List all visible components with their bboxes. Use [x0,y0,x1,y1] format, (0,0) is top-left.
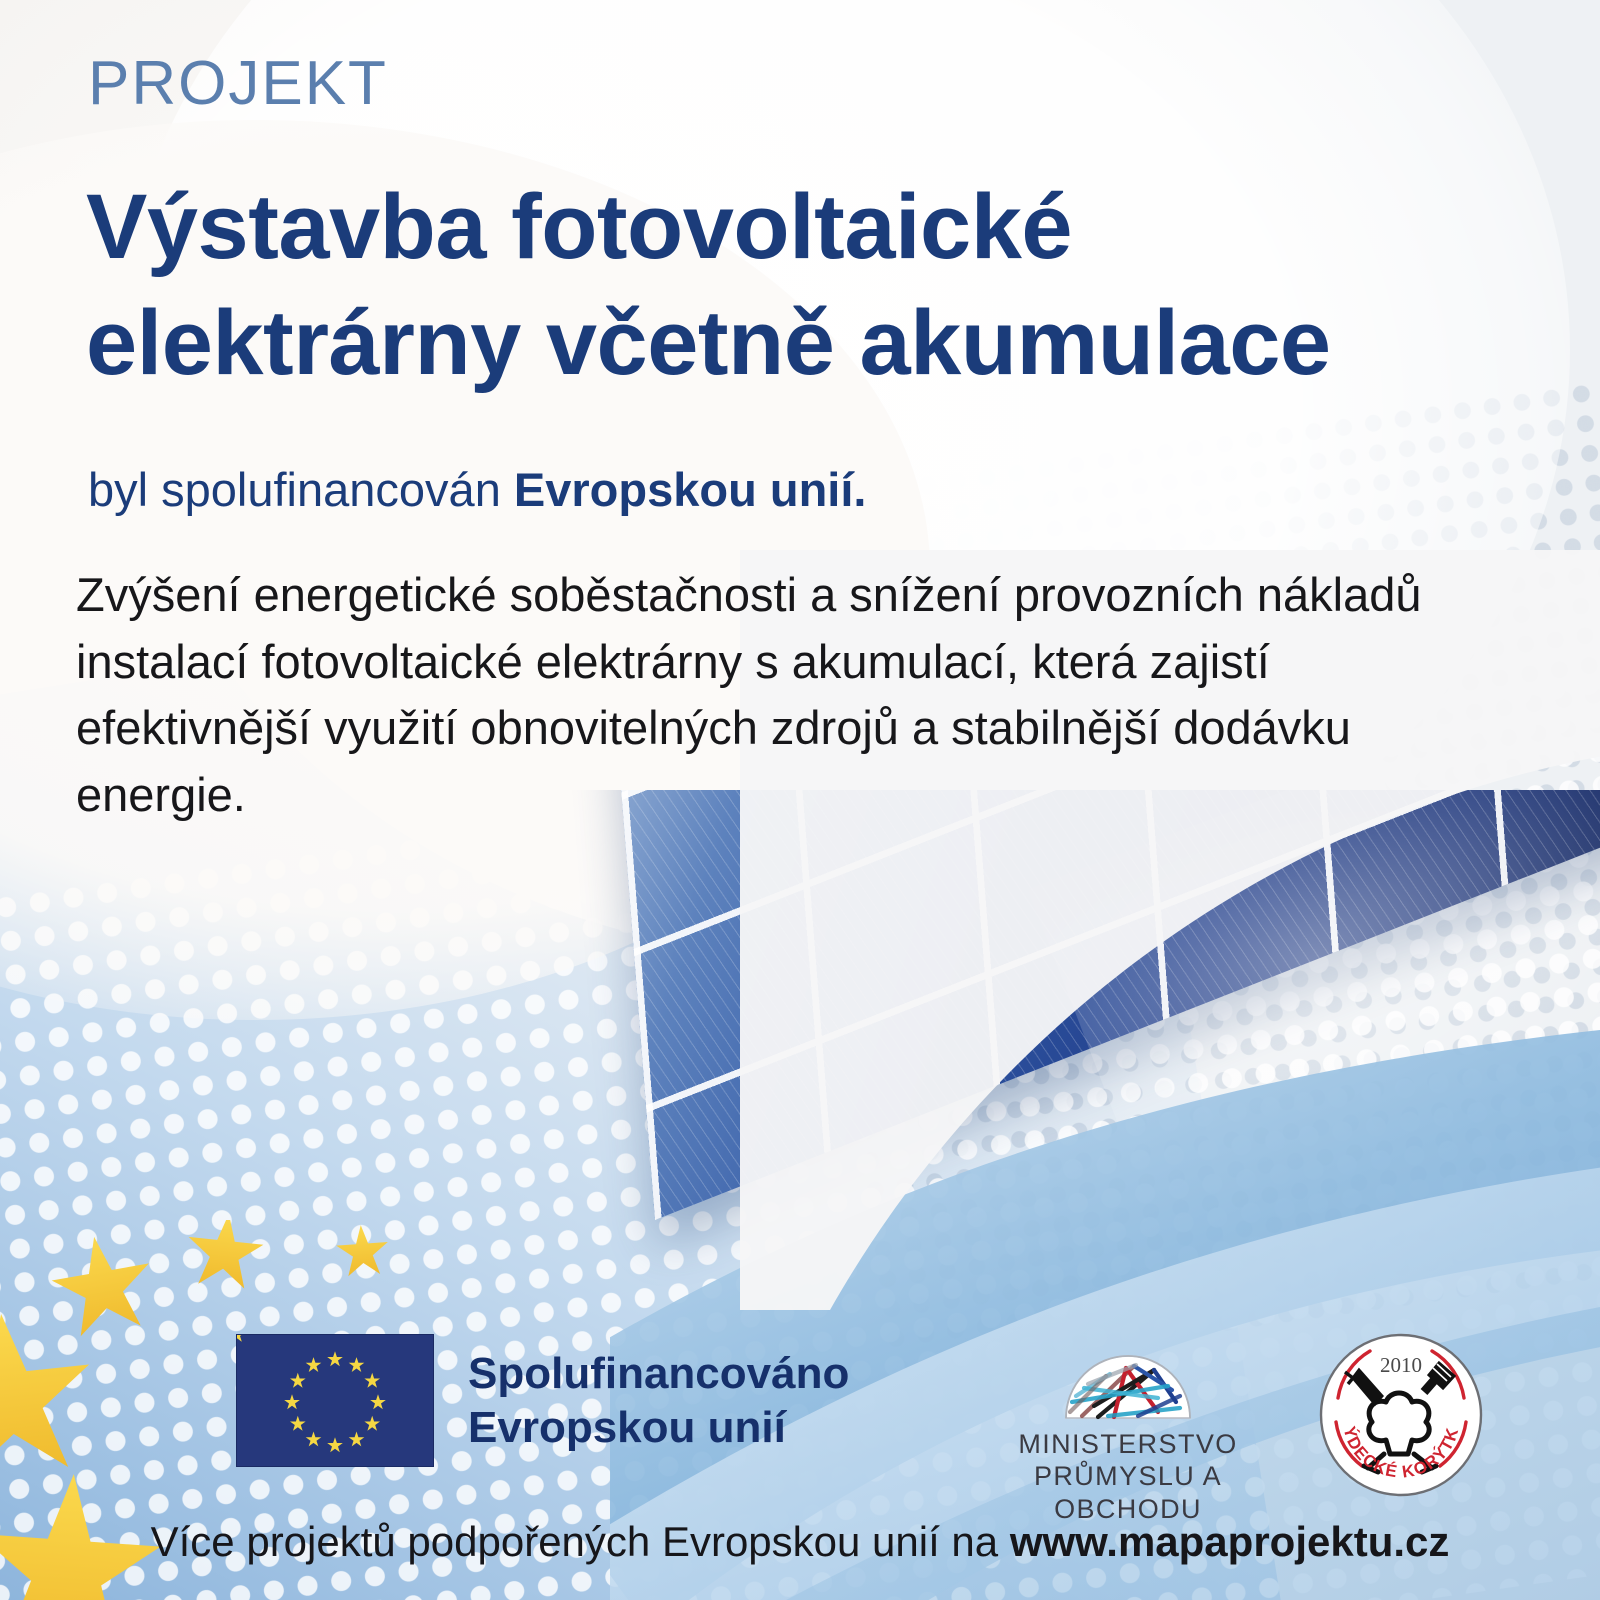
project-poster: PROJEKT Výstavba fotovoltaické elektrárn… [0,0,1600,1600]
funding-subline-plain: byl spolufinancován [88,463,514,516]
eu-cofunding-label: Spolufinancováno Evropskou unií [468,1347,849,1454]
page-kicker: PROJEKT [88,48,388,119]
korytko-year: 2010 [1380,1353,1422,1377]
eu-cofunding-logo: Spolufinancováno Evropskou unií [236,1334,849,1467]
korytko-seal-icon: 2010 NÝDECKÉ KORÝTKO [1312,1326,1490,1504]
footer-note: Více projektů podpořených Evropskou unií… [0,1518,1600,1566]
project-description: Zvýšení energetické soběstačnosti a sníž… [76,562,1496,829]
ministry-logo: MINISTERSTVO PRŮMYSLU A OBCHODU [978,1326,1278,1525]
page-title-line-1: Výstavba fotovoltaické [86,170,1486,286]
ministry-dome-icon [978,1326,1278,1422]
footer-note-plain: Více projektů podpořených Evropskou unií… [151,1518,1010,1565]
ministry-label: MINISTERSTVO PRŮMYSLU A OBCHODU [978,1428,1278,1525]
page-title: Výstavba fotovoltaické elektrárny včetně… [86,170,1486,402]
page-title-line-2: elektrárny včetně akumulace [86,286,1486,402]
eu-flag-icon [236,1334,434,1467]
footer-url[interactable]: www.mapaprojektu.cz [1010,1518,1450,1565]
funding-subline: byl spolufinancován Evropskou unií. [88,462,866,517]
funding-subline-bold: Evropskou unií. [514,463,867,516]
logo-bar: Spolufinancováno Evropskou unií [0,1318,1600,1518]
